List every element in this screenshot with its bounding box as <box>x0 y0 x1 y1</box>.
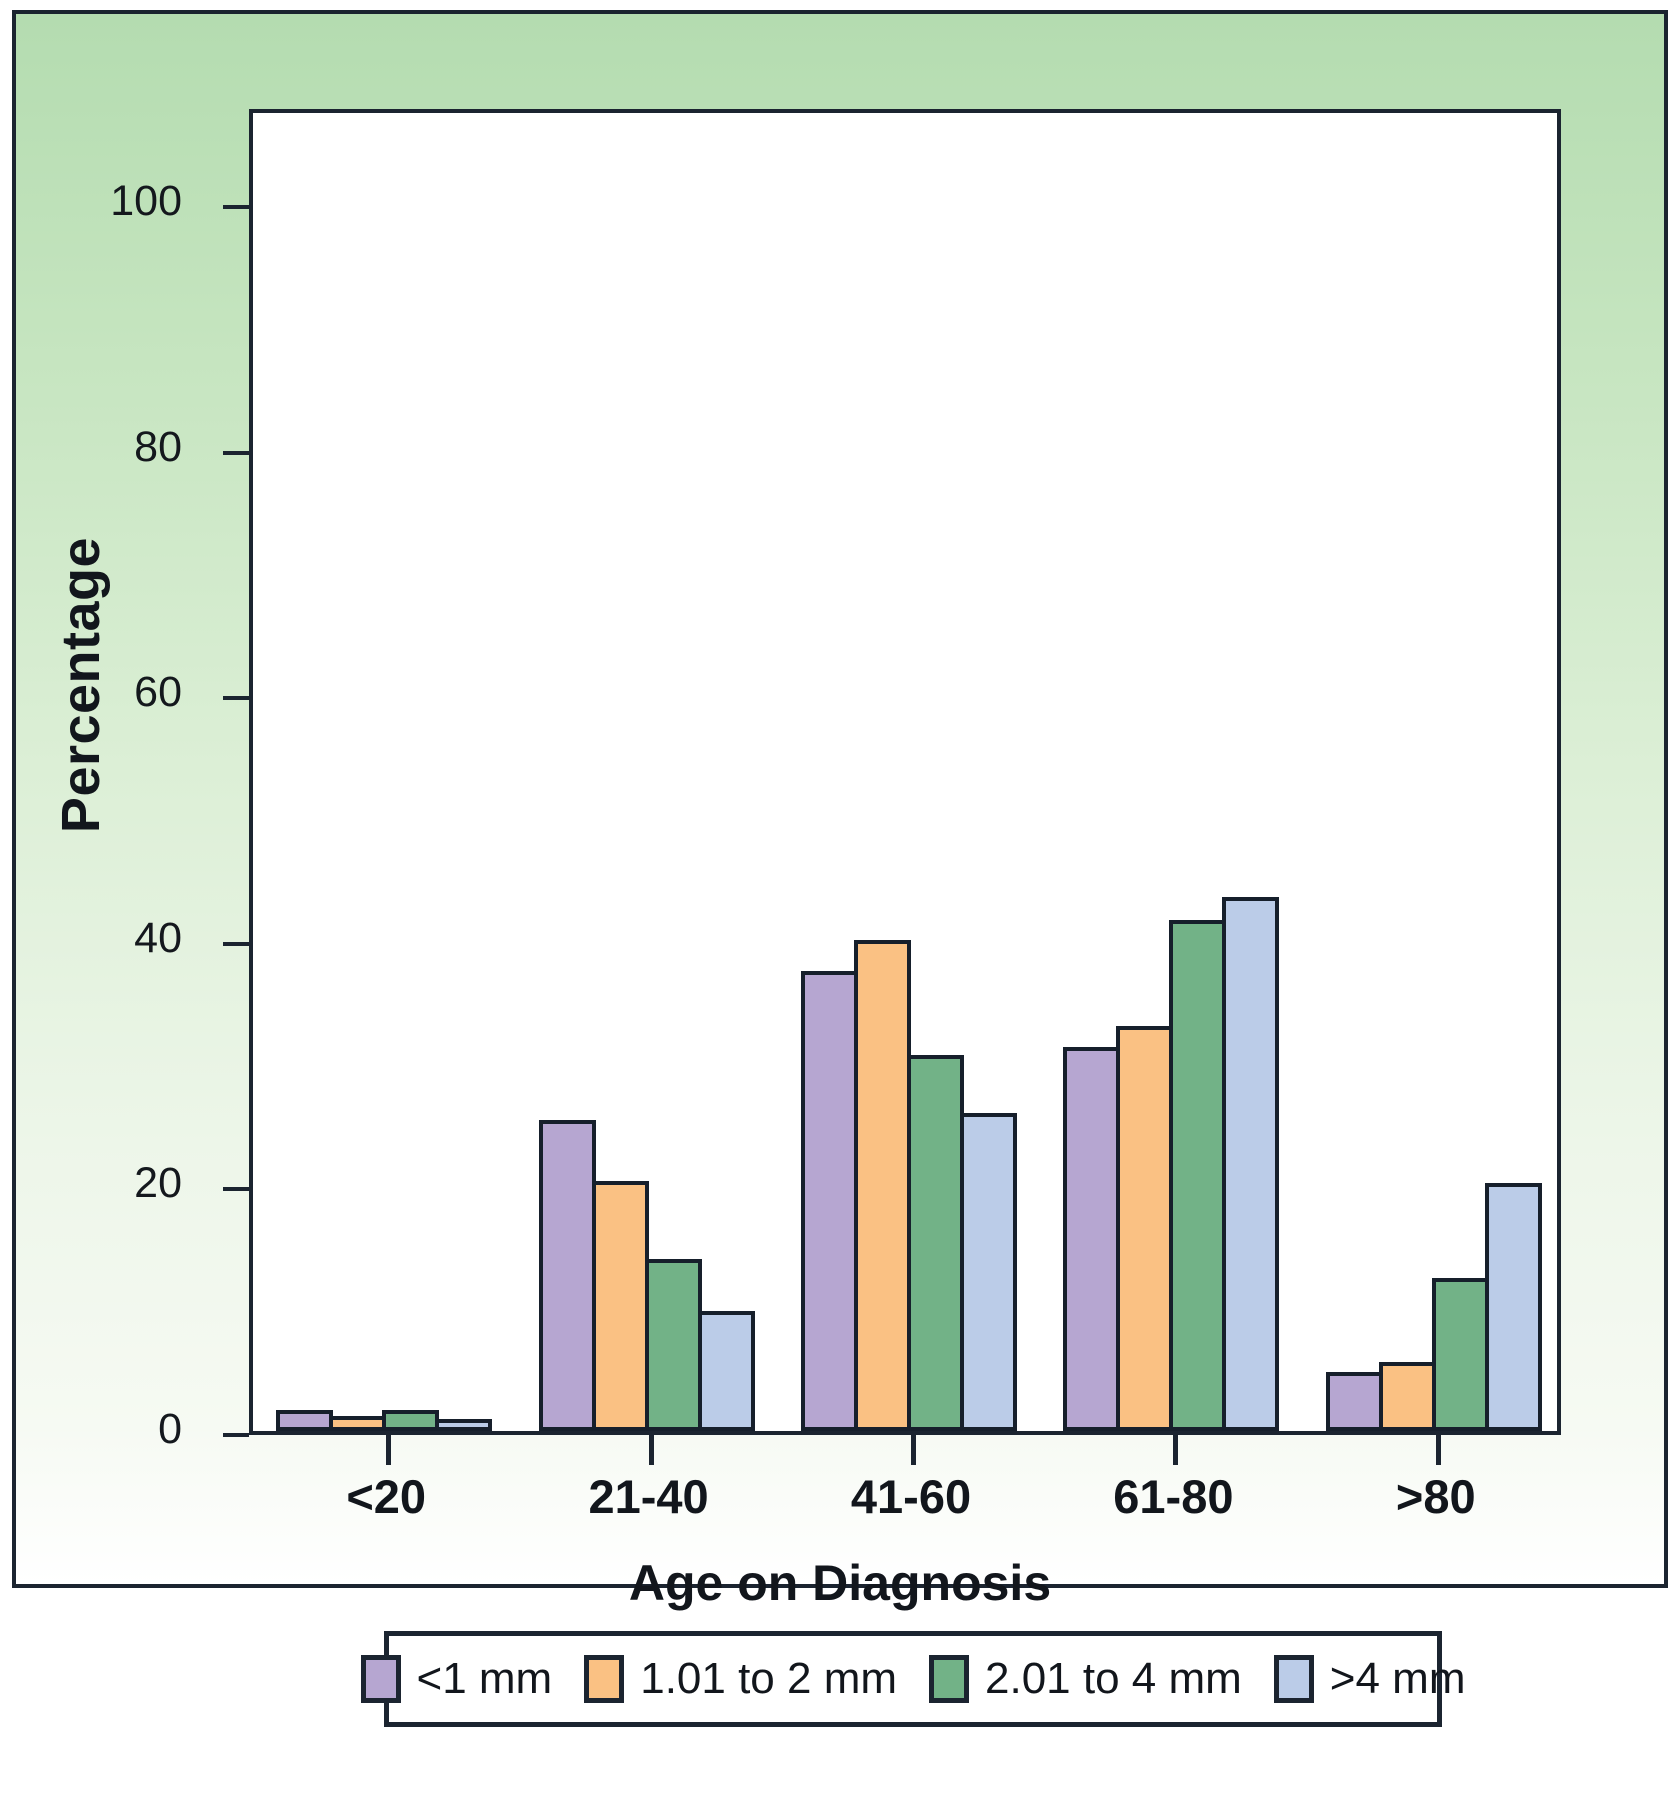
legend-swatch-icon <box>584 1655 624 1703</box>
x-axis-tick <box>1173 1435 1178 1465</box>
x-axis-tick-label: >80 <box>1306 1469 1566 1524</box>
bar <box>698 1311 755 1431</box>
y-axis-tick <box>223 696 249 700</box>
bar <box>1326 1372 1383 1431</box>
bar-group <box>1326 113 1554 1431</box>
x-axis-tick <box>911 1435 916 1465</box>
bar <box>1222 897 1279 1431</box>
bar <box>1169 920 1226 1431</box>
chart-panel: Percentage 020406080100 <2021-4041-6061-… <box>12 10 1668 1588</box>
bar <box>645 1259 702 1431</box>
legend-item[interactable]: <1 mm <box>361 1654 553 1704</box>
bar <box>1063 1047 1120 1431</box>
bar <box>854 940 911 1431</box>
y-axis-tick <box>223 942 249 946</box>
x-axis-tick <box>649 1435 654 1465</box>
x-axis-title: Age on Diagnosis <box>16 1554 1664 1612</box>
bars-layer <box>253 113 1557 1431</box>
bar <box>1116 1026 1173 1431</box>
x-axis-tick-label: 41-60 <box>781 1469 1041 1524</box>
legend-item[interactable]: 2.01 to 4 mm <box>929 1654 1242 1704</box>
y-axis-tick-label: 60 <box>134 668 182 717</box>
legend-label: 2.01 to 4 mm <box>985 1654 1242 1704</box>
y-axis-tick <box>223 205 249 209</box>
bar <box>539 1120 596 1431</box>
legend-swatch-icon <box>929 1655 969 1703</box>
legend-swatch-icon <box>361 1655 401 1703</box>
legend-item[interactable]: 1.01 to 2 mm <box>584 1654 897 1704</box>
bar <box>1432 1278 1489 1431</box>
y-axis-title: Percentage <box>50 425 112 945</box>
bar <box>329 1416 386 1431</box>
legend-label: 1.01 to 2 mm <box>640 1654 897 1704</box>
bar <box>907 1055 964 1431</box>
y-axis-tick-label: 100 <box>110 177 182 226</box>
y-axis-tick-label: 20 <box>134 1159 182 1208</box>
bar <box>592 1181 649 1431</box>
legend-label: <1 mm <box>417 1654 553 1704</box>
x-axis-tick-label: 21-40 <box>519 1469 779 1524</box>
y-axis-tick <box>223 451 249 455</box>
y-axis-tick-label: 0 <box>158 1405 182 1454</box>
y-axis-tick-label: 40 <box>134 914 182 963</box>
bar-group <box>801 113 1029 1431</box>
bar <box>960 1113 1017 1431</box>
x-axis-tick <box>1436 1435 1441 1465</box>
bar-group <box>276 113 504 1431</box>
y-axis-tick-label: 80 <box>134 423 182 472</box>
bar <box>1485 1183 1542 1431</box>
x-axis-tick-label: 61-80 <box>1043 1469 1303 1524</box>
legend-item[interactable]: >4 mm <box>1274 1654 1466 1704</box>
bar-group <box>539 113 767 1431</box>
bar <box>801 971 858 1431</box>
legend-swatch-icon <box>1274 1655 1314 1703</box>
bar <box>382 1410 439 1431</box>
bar <box>276 1410 333 1431</box>
legend-label: >4 mm <box>1330 1654 1466 1704</box>
plot-area <box>249 109 1561 1435</box>
bar <box>1379 1362 1436 1431</box>
y-axis-tick <box>223 1433 249 1437</box>
bar <box>435 1419 492 1431</box>
y-axis-tick <box>223 1187 249 1191</box>
chart-legend: <1 mm1.01 to 2 mm2.01 to 4 mm>4 mm <box>384 1631 1442 1727</box>
x-axis-tick-label: <20 <box>256 1469 516 1524</box>
figure-canvas: Percentage 020406080100 <2021-4041-6061-… <box>0 0 1680 1805</box>
x-axis-tick <box>386 1435 391 1465</box>
bar-group <box>1063 113 1291 1431</box>
